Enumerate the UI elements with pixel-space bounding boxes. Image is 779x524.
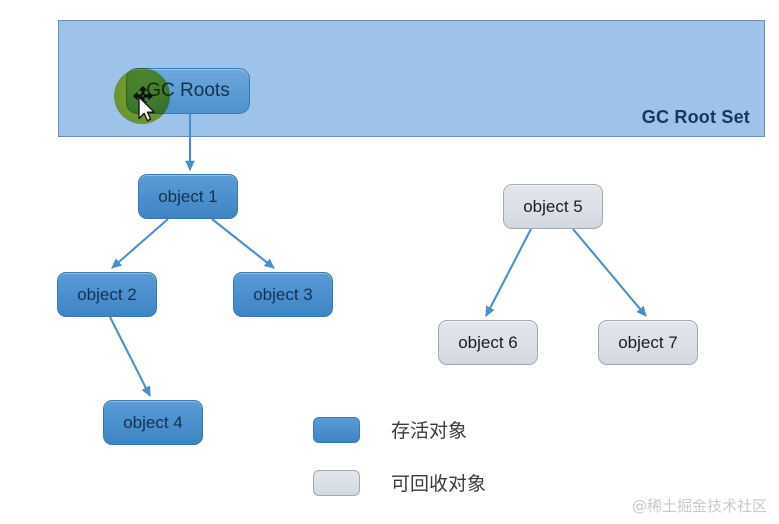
node-object-2[interactable]: object 2: [57, 272, 157, 317]
edge-object-1-to-object-3: [212, 219, 274, 268]
node-object-5[interactable]: object 5: [503, 184, 603, 229]
legend-swatch-live: [313, 417, 360, 443]
node-label: object 6: [458, 333, 518, 353]
node-object-4[interactable]: object 4: [103, 400, 203, 445]
edge-object-2-to-object-4: [110, 317, 150, 396]
edge-object-1-to-object-2: [112, 219, 168, 268]
node-label: object 3: [253, 285, 313, 305]
node-label: object 2: [77, 285, 137, 305]
edge-object-5-to-object-6: [486, 229, 531, 316]
node-label: object 4: [123, 413, 183, 433]
gc-root-set-label: GC Root Set: [642, 107, 750, 128]
legend-label-dead: 可回收对象: [391, 469, 486, 496]
node-object-7[interactable]: object 7: [598, 320, 698, 365]
node-label: object 1: [158, 187, 218, 207]
legend-label-live: 存活对象: [391, 416, 467, 443]
watermark: @稀土掘金技术社区: [632, 495, 767, 516]
diagram-canvas: GC Root Set GC Rootsobject 1object 2obje…: [0, 0, 779, 524]
node-object-1[interactable]: object 1: [138, 174, 238, 219]
node-label: object 5: [523, 197, 583, 217]
node-object-6[interactable]: object 6: [438, 320, 538, 365]
node-object-3[interactable]: object 3: [233, 272, 333, 317]
click-highlight-halo: [114, 68, 170, 124]
edge-object-5-to-object-7: [573, 229, 646, 316]
node-label: object 7: [618, 333, 678, 353]
legend-swatch-dead: [313, 470, 360, 496]
